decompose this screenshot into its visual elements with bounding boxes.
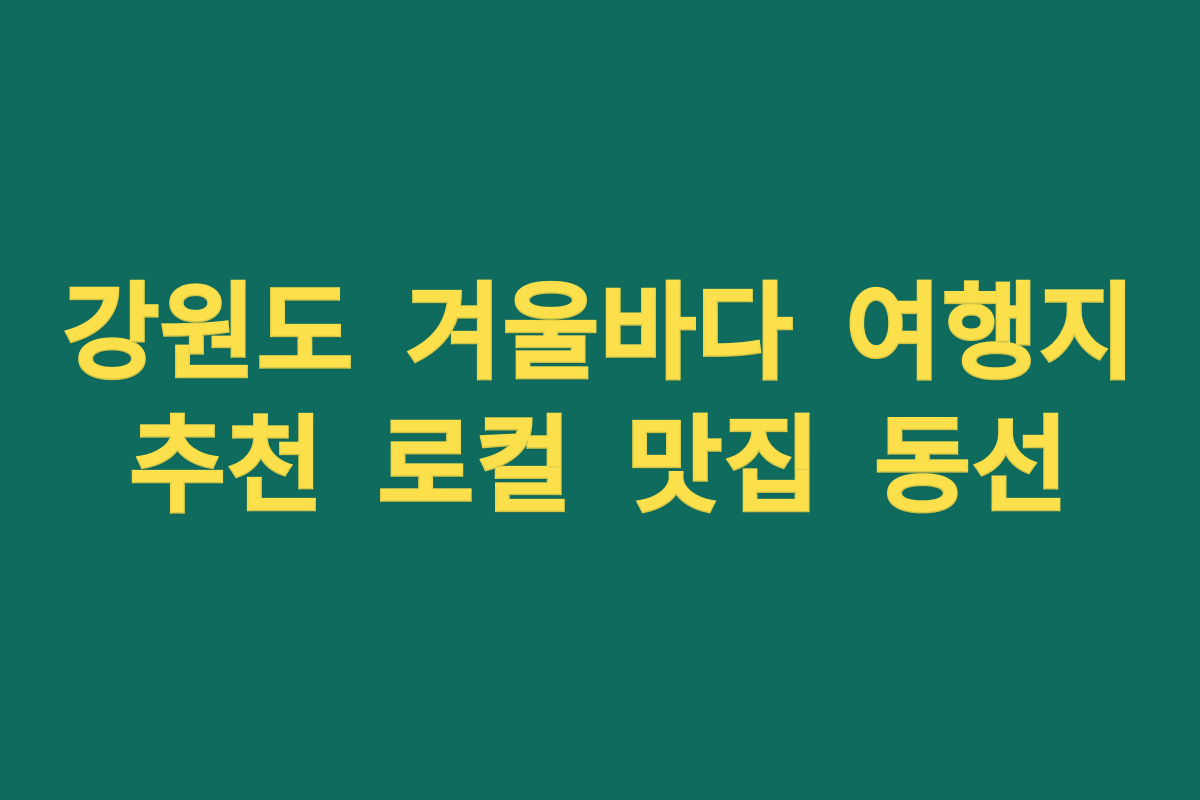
headline-block: 강원도 겨울바다 여행지 추천 로컬 맛집 동선 (0, 267, 1200, 533)
text-banner-card: 강원도 겨울바다 여행지 추천 로컬 맛집 동선 (0, 0, 1200, 800)
headline-line-1: 강원도 겨울바다 여행지 (0, 267, 1200, 400)
headline-line-2: 추천 로컬 맛집 동선 (0, 400, 1200, 533)
